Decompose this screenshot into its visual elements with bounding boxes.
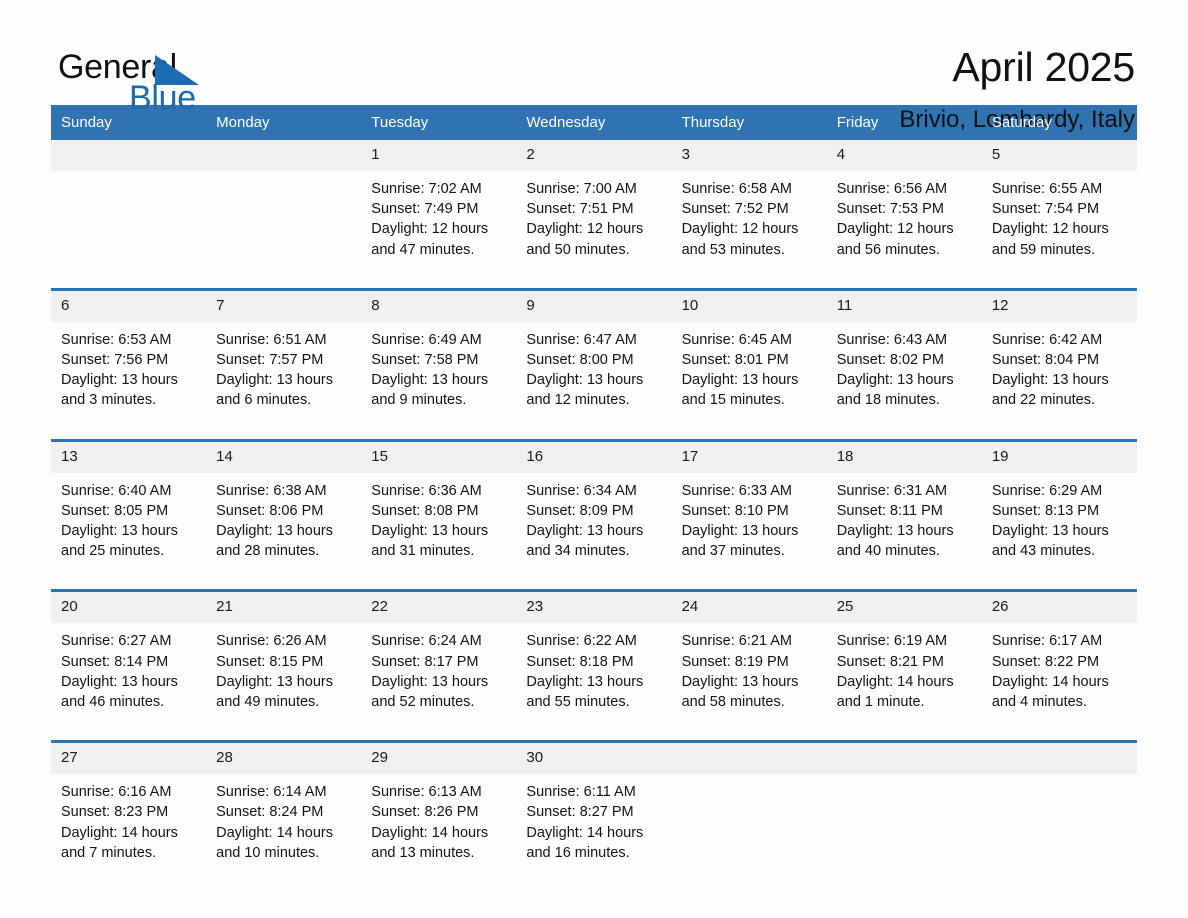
daylight-text-line1: Daylight: 12 hours — [371, 219, 506, 239]
calendar-day-cell[interactable]: 11Sunrise: 6:43 AMSunset: 8:02 PMDayligh… — [827, 289, 982, 424]
day-number: 12 — [982, 291, 1137, 322]
sunset-text: Sunset: 7:58 PM — [371, 350, 506, 370]
calendar-day-cell[interactable]: 4Sunrise: 6:56 AMSunset: 7:53 PMDaylight… — [827, 140, 982, 274]
sunrise-text: Sunrise: 6:55 AM — [992, 179, 1127, 199]
day-number: 19 — [982, 442, 1137, 473]
week-spacer-cell — [51, 726, 1137, 742]
daylight-text-line2: and 6 minutes. — [216, 390, 351, 410]
week-spacer — [51, 274, 1137, 290]
week-spacer-cell — [51, 575, 1137, 591]
daylight-text-line1: Daylight: 13 hours — [371, 521, 506, 541]
daylight-text-line2: and 47 minutes. — [371, 240, 506, 260]
daylight-text-line1: Daylight: 13 hours — [526, 521, 661, 541]
day-number — [982, 743, 1137, 774]
day-details: Sunrise: 6:38 AMSunset: 8:06 PMDaylight:… — [206, 473, 361, 576]
calendar-day-cell[interactable]: 9Sunrise: 6:47 AMSunset: 8:00 PMDaylight… — [516, 289, 671, 424]
daylight-text-line2: and 9 minutes. — [371, 390, 506, 410]
day-details: Sunrise: 6:21 AMSunset: 8:19 PMDaylight:… — [672, 623, 827, 726]
sunset-text: Sunset: 8:08 PM — [371, 501, 506, 521]
sunrise-text: Sunrise: 6:36 AM — [371, 481, 506, 501]
daylight-text-line1: Daylight: 14 hours — [526, 823, 661, 843]
day-number: 24 — [672, 592, 827, 623]
sunrise-text: Sunrise: 6:53 AM — [61, 330, 196, 350]
day-details: Sunrise: 6:31 AMSunset: 8:11 PMDaylight:… — [827, 473, 982, 576]
sunset-text: Sunset: 8:15 PM — [216, 652, 351, 672]
daylight-text-line1: Daylight: 13 hours — [371, 672, 506, 692]
calendar-page: General Blue April 2025 Brivio, Lombardy… — [0, 0, 1188, 918]
daylight-text-line2: and 55 minutes. — [526, 692, 661, 712]
day-details — [827, 774, 982, 856]
day-details: Sunrise: 6:24 AMSunset: 8:17 PMDaylight:… — [361, 623, 516, 726]
sunset-text: Sunset: 8:10 PM — [682, 501, 817, 521]
sunrise-text: Sunrise: 6:13 AM — [371, 782, 506, 802]
daylight-text-line2: and 28 minutes. — [216, 541, 351, 561]
day-details: Sunrise: 6:43 AMSunset: 8:02 PMDaylight:… — [827, 322, 982, 425]
sunset-text: Sunset: 7:51 PM — [526, 199, 661, 219]
calendar-day-cell[interactable]: 19Sunrise: 6:29 AMSunset: 8:13 PMDayligh… — [982, 440, 1137, 575]
day-details: Sunrise: 7:00 AMSunset: 7:51 PMDaylight:… — [516, 171, 671, 274]
day-details: Sunrise: 6:29 AMSunset: 8:13 PMDaylight:… — [982, 473, 1137, 576]
sunset-text: Sunset: 8:00 PM — [526, 350, 661, 370]
day-details: Sunrise: 6:17 AMSunset: 8:22 PMDaylight:… — [982, 623, 1137, 726]
calendar-day-cell[interactable]: 14Sunrise: 6:38 AMSunset: 8:06 PMDayligh… — [206, 440, 361, 575]
calendar-empty-cell — [982, 742, 1137, 877]
calendar-week-row: 13Sunrise: 6:40 AMSunset: 8:05 PMDayligh… — [51, 440, 1137, 575]
sunset-text: Sunset: 7:54 PM — [992, 199, 1127, 219]
day-number: 8 — [361, 291, 516, 322]
sunrise-text: Sunrise: 6:17 AM — [992, 631, 1127, 651]
calendar-day-cell[interactable]: 8Sunrise: 6:49 AMSunset: 7:58 PMDaylight… — [361, 289, 516, 424]
daylight-text-line2: and 53 minutes. — [682, 240, 817, 260]
daylight-text-line1: Daylight: 13 hours — [216, 370, 351, 390]
daylight-text-line2: and 31 minutes. — [371, 541, 506, 561]
sunset-text: Sunset: 8:13 PM — [992, 501, 1127, 521]
daylight-text-line1: Daylight: 14 hours — [837, 672, 972, 692]
daylight-text-line1: Daylight: 13 hours — [61, 370, 196, 390]
daylight-text-line1: Daylight: 13 hours — [526, 672, 661, 692]
day-number: 20 — [51, 592, 206, 623]
page-title: April 2025 — [899, 44, 1135, 90]
calendar-day-cell[interactable]: 30Sunrise: 6:11 AMSunset: 8:27 PMDayligh… — [516, 742, 671, 877]
daylight-text-line2: and 25 minutes. — [61, 541, 196, 561]
day-number: 3 — [672, 140, 827, 171]
day-details: Sunrise: 6:45 AMSunset: 8:01 PMDaylight:… — [672, 322, 827, 425]
week-spacer — [51, 726, 1137, 742]
calendar-empty-cell — [51, 140, 206, 274]
daylight-text-line1: Daylight: 12 hours — [526, 219, 661, 239]
day-details: Sunrise: 6:19 AMSunset: 8:21 PMDaylight:… — [827, 623, 982, 726]
daylight-text-line2: and 34 minutes. — [526, 541, 661, 561]
daylight-text-line2: and 40 minutes. — [837, 541, 972, 561]
daylight-text-line1: Daylight: 13 hours — [216, 521, 351, 541]
sunrise-text: Sunrise: 6:56 AM — [837, 179, 972, 199]
day-number: 30 — [516, 743, 671, 774]
logo-word-blue: Blue — [129, 81, 196, 115]
day-number: 7 — [206, 291, 361, 322]
sunset-text: Sunset: 7:56 PM — [61, 350, 196, 370]
day-details: Sunrise: 6:34 AMSunset: 8:09 PMDaylight:… — [516, 473, 671, 576]
calendar-day-cell[interactable]: 20Sunrise: 6:27 AMSunset: 8:14 PMDayligh… — [51, 591, 206, 726]
calendar-day-cell[interactable]: 12Sunrise: 6:42 AMSunset: 8:04 PMDayligh… — [982, 289, 1137, 424]
sunrise-text: Sunrise: 7:00 AM — [526, 179, 661, 199]
daylight-text-line2: and 58 minutes. — [682, 692, 817, 712]
day-details — [672, 774, 827, 856]
day-details: Sunrise: 6:26 AMSunset: 8:15 PMDaylight:… — [206, 623, 361, 726]
calendar-body: 1Sunrise: 7:02 AMSunset: 7:49 PMDaylight… — [51, 140, 1137, 877]
weekday-header-thursday: Thursday — [672, 105, 827, 140]
day-number: 11 — [827, 291, 982, 322]
calendar-day-cell[interactable]: 6Sunrise: 6:53 AMSunset: 7:56 PMDaylight… — [51, 289, 206, 424]
weekday-header-monday: Monday — [206, 105, 361, 140]
daylight-text-line2: and 18 minutes. — [837, 390, 972, 410]
calendar-day-cell[interactable]: 27Sunrise: 6:16 AMSunset: 8:23 PMDayligh… — [51, 742, 206, 877]
daylight-text-line2: and 59 minutes. — [992, 240, 1127, 260]
daylight-text-line1: Daylight: 14 hours — [61, 823, 196, 843]
calendar-day-cell[interactable]: 24Sunrise: 6:21 AMSunset: 8:19 PMDayligh… — [672, 591, 827, 726]
daylight-text-line1: Daylight: 13 hours — [526, 370, 661, 390]
day-number: 1 — [361, 140, 516, 171]
daylight-text-line1: Daylight: 14 hours — [371, 823, 506, 843]
daylight-text-line1: Daylight: 13 hours — [61, 672, 196, 692]
calendar-day-cell[interactable]: 5Sunrise: 6:55 AMSunset: 7:54 PMDaylight… — [982, 140, 1137, 274]
sunrise-text: Sunrise: 7:02 AM — [371, 179, 506, 199]
calendar-day-cell[interactable]: 29Sunrise: 6:13 AMSunset: 8:26 PMDayligh… — [361, 742, 516, 877]
week-spacer — [51, 575, 1137, 591]
sunset-text: Sunset: 8:06 PM — [216, 501, 351, 521]
day-details: Sunrise: 7:02 AMSunset: 7:49 PMDaylight:… — [361, 171, 516, 274]
daylight-text-line2: and 4 minutes. — [992, 692, 1127, 712]
day-number — [827, 743, 982, 774]
calendar-day-cell[interactable]: 15Sunrise: 6:36 AMSunset: 8:08 PMDayligh… — [361, 440, 516, 575]
day-number: 18 — [827, 442, 982, 473]
daylight-text-line1: Daylight: 12 hours — [837, 219, 972, 239]
sunset-text: Sunset: 7:52 PM — [682, 199, 817, 219]
day-number: 15 — [361, 442, 516, 473]
daylight-text-line1: Daylight: 12 hours — [992, 219, 1127, 239]
sunrise-text: Sunrise: 6:51 AM — [216, 330, 351, 350]
daylight-text-line2: and 43 minutes. — [992, 541, 1127, 561]
daylight-text-line2: and 3 minutes. — [61, 390, 196, 410]
sunset-text: Sunset: 7:53 PM — [837, 199, 972, 219]
day-details: Sunrise: 6:36 AMSunset: 8:08 PMDaylight:… — [361, 473, 516, 576]
day-number: 5 — [982, 140, 1137, 171]
sunrise-text: Sunrise: 6:31 AM — [837, 481, 972, 501]
calendar-day-cell[interactable]: 23Sunrise: 6:22 AMSunset: 8:18 PMDayligh… — [516, 591, 671, 726]
daylight-text-line1: Daylight: 13 hours — [682, 370, 817, 390]
day-number: 23 — [516, 592, 671, 623]
sunrise-text: Sunrise: 6:29 AM — [992, 481, 1127, 501]
sunset-text: Sunset: 8:24 PM — [216, 802, 351, 822]
day-details: Sunrise: 6:16 AMSunset: 8:23 PMDaylight:… — [51, 774, 206, 877]
day-details: Sunrise: 6:40 AMSunset: 8:05 PMDaylight:… — [51, 473, 206, 576]
sunrise-text: Sunrise: 6:58 AM — [682, 179, 817, 199]
day-number: 22 — [361, 592, 516, 623]
general-blue-logo[interactable]: General Blue — [58, 44, 208, 118]
daylight-text-line2: and 16 minutes. — [526, 843, 661, 863]
day-details: Sunrise: 6:14 AMSunset: 8:24 PMDaylight:… — [206, 774, 361, 877]
calendar-week-row: 20Sunrise: 6:27 AMSunset: 8:14 PMDayligh… — [51, 591, 1137, 726]
day-details: Sunrise: 6:33 AMSunset: 8:10 PMDaylight:… — [672, 473, 827, 576]
day-number: 28 — [206, 743, 361, 774]
day-number: 9 — [516, 291, 671, 322]
day-details — [51, 171, 206, 253]
calendar-day-cell[interactable]: 22Sunrise: 6:24 AMSunset: 8:17 PMDayligh… — [361, 591, 516, 726]
day-details: Sunrise: 6:58 AMSunset: 7:52 PMDaylight:… — [672, 171, 827, 274]
calendar-day-cell[interactable]: 25Sunrise: 6:19 AMSunset: 8:21 PMDayligh… — [827, 591, 982, 726]
daylight-text-line1: Daylight: 14 hours — [992, 672, 1127, 692]
day-details: Sunrise: 6:11 AMSunset: 8:27 PMDaylight:… — [516, 774, 671, 877]
daylight-text-line1: Daylight: 13 hours — [61, 521, 196, 541]
day-number — [206, 140, 361, 171]
day-number: 21 — [206, 592, 361, 623]
sunrise-text: Sunrise: 6:43 AM — [837, 330, 972, 350]
daylight-text-line1: Daylight: 14 hours — [216, 823, 351, 843]
sunrise-text: Sunrise: 6:24 AM — [371, 631, 506, 651]
daylight-text-line2: and 13 minutes. — [371, 843, 506, 863]
daylight-text-line2: and 56 minutes. — [837, 240, 972, 260]
sunrise-text: Sunrise: 6:33 AM — [682, 481, 817, 501]
sunrise-text: Sunrise: 6:26 AM — [216, 631, 351, 651]
daylight-text-line1: Daylight: 13 hours — [837, 370, 972, 390]
day-number: 2 — [516, 140, 671, 171]
sunset-text: Sunset: 8:02 PM — [837, 350, 972, 370]
day-number: 16 — [516, 442, 671, 473]
daylight-text-line1: Daylight: 12 hours — [682, 219, 817, 239]
day-number — [672, 743, 827, 774]
calendar-empty-cell — [206, 140, 361, 274]
daylight-text-line2: and 52 minutes. — [371, 692, 506, 712]
daylight-text-line2: and 37 minutes. — [682, 541, 817, 561]
day-details: Sunrise: 6:13 AMSunset: 8:26 PMDaylight:… — [361, 774, 516, 877]
sunset-text: Sunset: 8:14 PM — [61, 652, 196, 672]
daylight-text-line2: and 7 minutes. — [61, 843, 196, 863]
day-details — [982, 774, 1137, 856]
calendar-day-cell[interactable]: 18Sunrise: 6:31 AMSunset: 8:11 PMDayligh… — [827, 440, 982, 575]
day-details: Sunrise: 6:47 AMSunset: 8:00 PMDaylight:… — [516, 322, 671, 425]
sunset-text: Sunset: 8:18 PM — [526, 652, 661, 672]
sunset-text: Sunset: 8:22 PM — [992, 652, 1127, 672]
daylight-text-line1: Daylight: 13 hours — [682, 672, 817, 692]
daylight-text-line2: and 10 minutes. — [216, 843, 351, 863]
calendar-day-cell[interactable]: 26Sunrise: 6:17 AMSunset: 8:22 PMDayligh… — [982, 591, 1137, 726]
sunrise-text: Sunrise: 6:21 AM — [682, 631, 817, 651]
sunset-text: Sunset: 8:09 PM — [526, 501, 661, 521]
day-number: 25 — [827, 592, 982, 623]
daylight-text-line2: and 1 minute. — [837, 692, 972, 712]
calendar-day-cell[interactable]: 21Sunrise: 6:26 AMSunset: 8:15 PMDayligh… — [206, 591, 361, 726]
daylight-text-line2: and 15 minutes. — [682, 390, 817, 410]
sunset-text: Sunset: 7:49 PM — [371, 199, 506, 219]
calendar-day-cell[interactable]: 10Sunrise: 6:45 AMSunset: 8:01 PMDayligh… — [672, 289, 827, 424]
sunset-text: Sunset: 8:27 PM — [526, 802, 661, 822]
day-number — [51, 140, 206, 171]
calendar-day-cell[interactable]: 1Sunrise: 7:02 AMSunset: 7:49 PMDaylight… — [361, 140, 516, 274]
day-details — [206, 171, 361, 253]
calendar-day-cell[interactable]: 28Sunrise: 6:14 AMSunset: 8:24 PMDayligh… — [206, 742, 361, 877]
sunset-text: Sunset: 8:01 PM — [682, 350, 817, 370]
sunset-text: Sunset: 8:26 PM — [371, 802, 506, 822]
calendar-empty-cell — [827, 742, 982, 877]
day-number: 26 — [982, 592, 1137, 623]
weekday-header-wednesday: Wednesday — [516, 105, 671, 140]
sunset-text: Sunset: 8:23 PM — [61, 802, 196, 822]
calendar-day-cell[interactable]: 17Sunrise: 6:33 AMSunset: 8:10 PMDayligh… — [672, 440, 827, 575]
sunrise-text: Sunrise: 6:45 AM — [682, 330, 817, 350]
daylight-text-line1: Daylight: 13 hours — [216, 672, 351, 692]
daylight-text-line2: and 12 minutes. — [526, 390, 661, 410]
sunrise-text: Sunrise: 6:14 AM — [216, 782, 351, 802]
calendar-week-row: 27Sunrise: 6:16 AMSunset: 8:23 PMDayligh… — [51, 742, 1137, 877]
sunrise-text: Sunrise: 6:40 AM — [61, 481, 196, 501]
sunrise-text: Sunrise: 6:27 AM — [61, 631, 196, 651]
calendar-day-cell[interactable]: 3Sunrise: 6:58 AMSunset: 7:52 PMDaylight… — [672, 140, 827, 274]
day-details: Sunrise: 6:22 AMSunset: 8:18 PMDaylight:… — [516, 623, 671, 726]
calendar-empty-cell — [672, 742, 827, 877]
day-details: Sunrise: 6:51 AMSunset: 7:57 PMDaylight:… — [206, 322, 361, 425]
calendar-day-cell[interactable]: 2Sunrise: 7:00 AMSunset: 7:51 PMDaylight… — [516, 140, 671, 274]
day-number: 27 — [51, 743, 206, 774]
day-details: Sunrise: 6:56 AMSunset: 7:53 PMDaylight:… — [827, 171, 982, 274]
day-number: 13 — [51, 442, 206, 473]
sunset-text: Sunset: 7:57 PM — [216, 350, 351, 370]
sunset-text: Sunset: 8:17 PM — [371, 652, 506, 672]
day-details: Sunrise: 6:53 AMSunset: 7:56 PMDaylight:… — [51, 322, 206, 425]
sunrise-sunset-calendar: Sunday Monday Tuesday Wednesday Thursday… — [51, 105, 1137, 877]
sunrise-text: Sunrise: 6:11 AM — [526, 782, 661, 802]
sunrise-text: Sunrise: 6:49 AM — [371, 330, 506, 350]
daylight-text-line1: Daylight: 13 hours — [992, 370, 1127, 390]
daylight-text-line2: and 46 minutes. — [61, 692, 196, 712]
day-number: 17 — [672, 442, 827, 473]
sunrise-text: Sunrise: 6:47 AM — [526, 330, 661, 350]
sunrise-text: Sunrise: 6:34 AM — [526, 481, 661, 501]
daylight-text-line1: Daylight: 13 hours — [837, 521, 972, 541]
sunset-text: Sunset: 8:19 PM — [682, 652, 817, 672]
day-number: 6 — [51, 291, 206, 322]
calendar-day-cell[interactable]: 7Sunrise: 6:51 AMSunset: 7:57 PMDaylight… — [206, 289, 361, 424]
sunset-text: Sunset: 8:11 PM — [837, 501, 972, 521]
sunrise-text: Sunrise: 6:22 AM — [526, 631, 661, 651]
weekday-header-tuesday: Tuesday — [361, 105, 516, 140]
day-number: 10 — [672, 291, 827, 322]
week-spacer-cell — [51, 274, 1137, 290]
calendar-week-row: 6Sunrise: 6:53 AMSunset: 7:56 PMDaylight… — [51, 289, 1137, 424]
calendar-day-cell[interactable]: 16Sunrise: 6:34 AMSunset: 8:09 PMDayligh… — [516, 440, 671, 575]
day-details: Sunrise: 6:55 AMSunset: 7:54 PMDaylight:… — [982, 171, 1137, 274]
sunset-text: Sunset: 8:21 PM — [837, 652, 972, 672]
sunset-text: Sunset: 8:04 PM — [992, 350, 1127, 370]
page-header: General Blue April 2025 Brivio, Lombardy… — [51, 0, 1137, 105]
calendar-day-cell[interactable]: 13Sunrise: 6:40 AMSunset: 8:05 PMDayligh… — [51, 440, 206, 575]
daylight-text-line1: Daylight: 13 hours — [992, 521, 1127, 541]
sunrise-text: Sunrise: 6:38 AM — [216, 481, 351, 501]
day-number: 4 — [827, 140, 982, 171]
daylight-text-line1: Daylight: 13 hours — [682, 521, 817, 541]
daylight-text-line2: and 50 minutes. — [526, 240, 661, 260]
sunset-text: Sunset: 8:05 PM — [61, 501, 196, 521]
week-spacer — [51, 425, 1137, 441]
sunrise-text: Sunrise: 6:42 AM — [992, 330, 1127, 350]
day-details: Sunrise: 6:42 AMSunset: 8:04 PMDaylight:… — [982, 322, 1137, 425]
sunrise-text: Sunrise: 6:19 AM — [837, 631, 972, 651]
daylight-text-line2: and 49 minutes. — [216, 692, 351, 712]
calendar-week-row: 1Sunrise: 7:02 AMSunset: 7:49 PMDaylight… — [51, 140, 1137, 274]
sunrise-text: Sunrise: 6:16 AM — [61, 782, 196, 802]
day-number: 29 — [361, 743, 516, 774]
daylight-text-line1: Daylight: 13 hours — [371, 370, 506, 390]
week-spacer-cell — [51, 425, 1137, 441]
daylight-text-line2: and 22 minutes. — [992, 390, 1127, 410]
day-details: Sunrise: 6:49 AMSunset: 7:58 PMDaylight:… — [361, 322, 516, 425]
day-details: Sunrise: 6:27 AMSunset: 8:14 PMDaylight:… — [51, 623, 206, 726]
day-number: 14 — [206, 442, 361, 473]
